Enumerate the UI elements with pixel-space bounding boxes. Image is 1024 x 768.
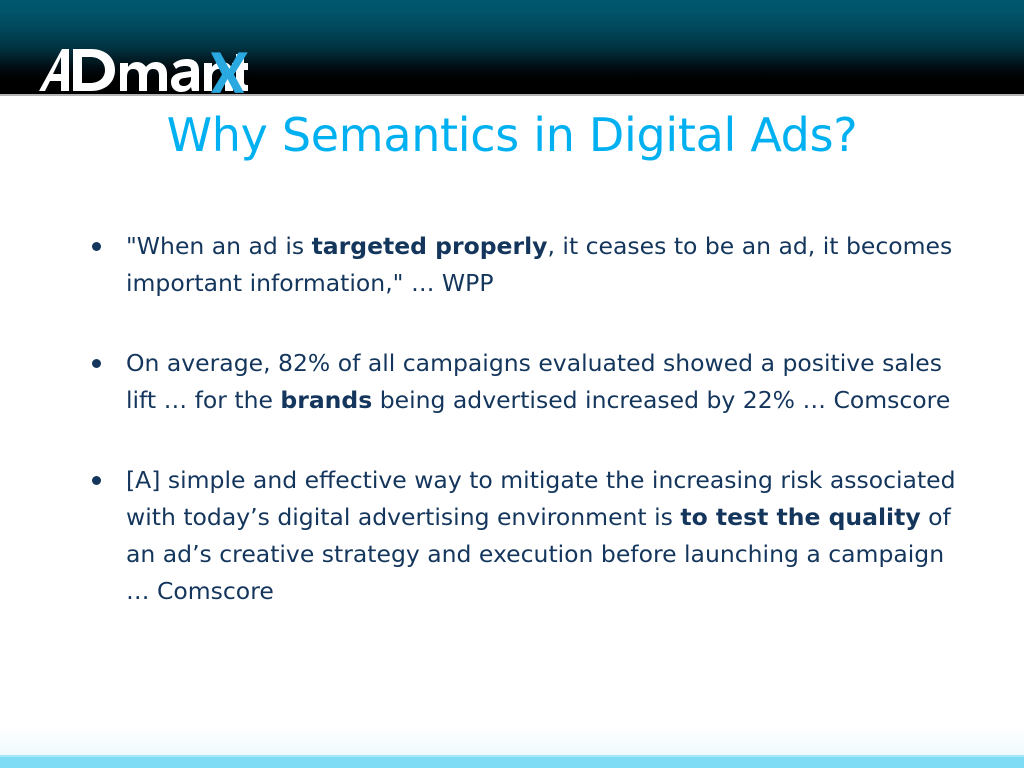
bullet-text-3: [A] simple and effective way to mitigate…	[126, 462, 966, 610]
list-item: On average, 82% of all campaigns evaluat…	[86, 345, 966, 419]
footer-accent-bar-highlight	[0, 755, 1024, 757]
presentation-slide: Why Semantics in Digital Ads? "When an a…	[0, 0, 1024, 768]
page-title: Why Semantics in Digital Ads?	[0, 104, 1024, 166]
admantx-logo	[36, 47, 248, 97]
admantx-logo-icon	[36, 47, 248, 97]
bullet-1-segment-1: "When an ad is	[126, 232, 312, 260]
footer-fade	[0, 726, 1024, 755]
bullet-dot-icon	[92, 359, 101, 368]
bullet-3-segment-2-bold: to test the quality	[680, 503, 920, 531]
bullet-2-segment-3: being advertised increased by 22% … Coms…	[372, 386, 950, 414]
bullet-dot-icon	[92, 242, 101, 251]
list-item: "When an ad is targeted properly, it cea…	[86, 228, 966, 302]
slide-body: "When an ad is targeted properly, it cea…	[86, 228, 966, 610]
bullet-text-2: On average, 82% of all campaigns evaluat…	[126, 345, 966, 419]
bullet-dot-icon	[92, 476, 101, 485]
list-item: [A] simple and effective way to mitigate…	[86, 462, 966, 610]
bullet-text-1: "When an ad is targeted properly, it cea…	[126, 228, 966, 302]
bullet-1-segment-2-bold: targeted properly	[312, 232, 548, 260]
bullet-2-segment-2-bold: brands	[280, 386, 372, 414]
